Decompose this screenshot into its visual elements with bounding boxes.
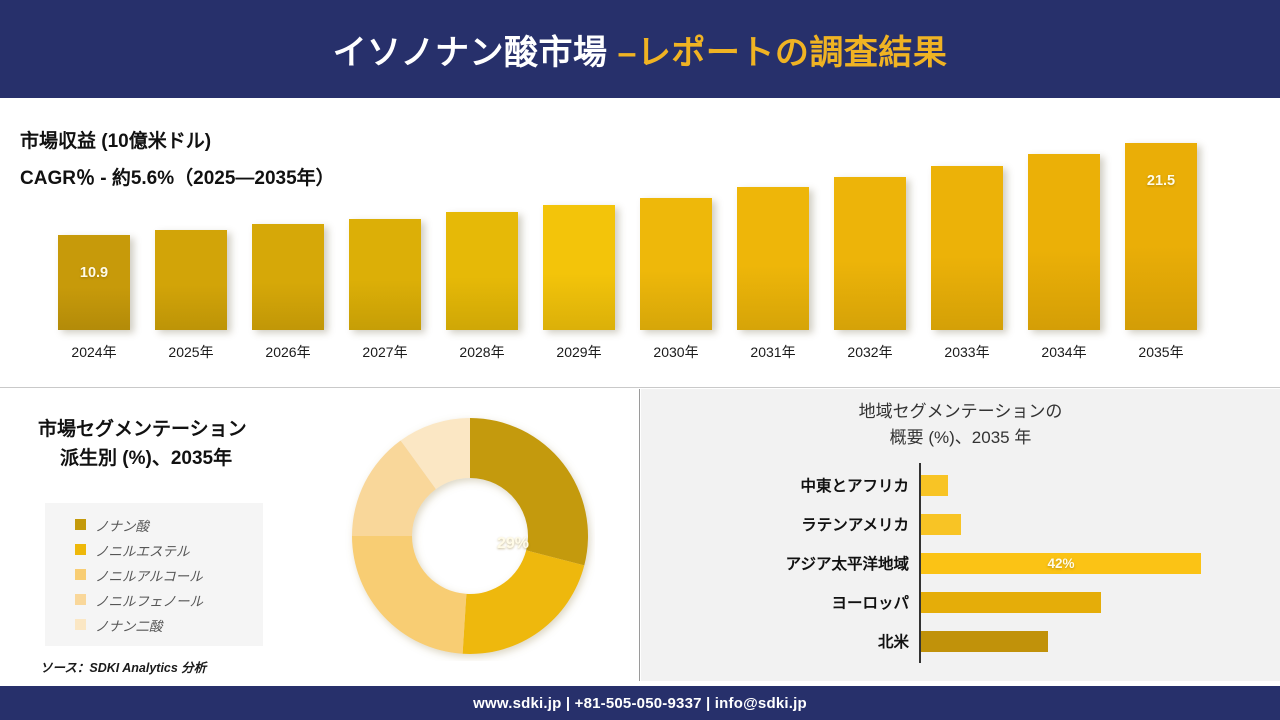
donut-slice [352,536,466,654]
revenue-bar: 2028年 [446,212,518,330]
revenue-bar-label: 2029年 [529,342,629,362]
region-row: 中東とアフリカ [641,465,1280,505]
segmentation-legend: ノナン酸ノニルエステルノニルアルコールノニルフェノールノナン二酸 [45,503,263,646]
regional-title-line2: 概要 (%)、2035 年 [641,425,1280,451]
revenue-bar-chart: 10.92024年2025年2026年2027年2028年2029年2030年2… [40,128,1240,368]
region-row: アジア太平洋地域42% [641,543,1280,583]
legend-item-label: ノニルエステル [95,540,190,560]
revenue-bar-label: 2026年 [238,342,338,362]
donut-center-value: 29% [497,535,529,553]
footer-banner: www.sdki.jp | +81-505-050-9337 | info@sd… [0,686,1280,720]
legend-swatch-icon [75,594,86,605]
revenue-bar: 2030年 [640,198,712,330]
bar-column: 2027年 [349,130,421,330]
regional-segmentation-section: 地域セグメンテーションの 概要 (%)、2035 年 中東とアフリカラテンアメリ… [641,389,1280,681]
page-title-main: イソノナン酸市場 [333,34,618,72]
revenue-bar: 2029年 [543,205,615,330]
legend-item-label: ノニルフェノール [95,590,203,610]
legend-item-label: ノナン二酸 [95,615,163,635]
revenue-bar-label: 2033年 [917,342,1017,362]
revenue-bar: 2033年 [931,166,1003,330]
legend-item-label: ノナン酸 [95,515,149,535]
revenue-bar-label: 2035年 [1111,342,1211,362]
regional-title: 地域セグメンテーションの 概要 (%)、2035 年 [641,399,1280,450]
legend-swatch-icon [75,619,86,630]
region-label: 中東とアフリカ [709,474,909,496]
bar-column: 2033年 [931,130,1003,330]
region-bar: 42% [921,553,1201,574]
page-title: イソノナン酸市場 –レポートの調査結果 [333,25,948,74]
legend-item: ノナン二酸 [75,612,263,637]
region-label: ラテンアメリカ [709,513,909,535]
source-note: ソース：SDKI Analytics 分析 [40,657,206,676]
revenue-bar: 2034年 [1028,154,1100,330]
revenue-bar: 2026年 [252,224,324,330]
legend-swatch-icon [75,519,86,530]
region-label: 北米 [709,630,909,652]
revenue-bar-label: 2032年 [820,342,920,362]
bar-column: 2034年 [1028,130,1100,330]
revenue-bar: 21.52035年 [1125,143,1197,330]
market-segmentation-section: 市場セグメンテーション 派生別 (%)、2035年 ノナン酸ノニルエステルノニル… [0,389,640,681]
bar-column: 2025年 [155,130,227,330]
revenue-bar-label: 2028年 [432,342,532,362]
footer-contact-text: www.sdki.jp | +81-505-050-9337 | info@sd… [473,695,807,712]
revenue-bar-value: 10.9 [58,265,130,281]
region-label: ヨーロッパ [709,591,909,613]
page-title-sub: –レポートの調査結果 [618,34,948,72]
bar-column: 2032年 [834,130,906,330]
revenue-bar-plot: 10.92024年2025年2026年2027年2028年2029年2030年2… [40,130,1240,330]
region-row: 北米 [641,621,1280,661]
revenue-bar-label: 2027年 [335,342,435,362]
segmentation-title-line1: 市場セグメンテーション [38,415,247,444]
segmentation-title: 市場セグメンテーション 派生別 (%)、2035年 [38,415,247,474]
region-bar [921,514,961,535]
revenue-bar-value: 21.5 [1125,173,1197,189]
region-bar [921,592,1101,613]
revenue-bar: 2032年 [834,177,906,330]
region-bar [921,631,1048,652]
segmentation-title-line2: 派生別 (%)、2035年 [38,444,247,473]
revenue-bar: 10.92024年 [58,235,130,330]
legend-item: ノニルエステル [75,537,263,562]
legend-item-label: ノニルアルコール [95,565,203,585]
revenue-bar-label: 2024年 [44,342,144,362]
header-banner: イソノナン酸市場 –レポートの調査結果 [0,0,1280,98]
revenue-bar: 2025年 [155,230,227,330]
revenue-bar-label: 2031年 [723,342,823,362]
market-revenue-section: 市場収益 (10億米ドル) CAGR％ - 約5.6%（2025―2035年） … [0,98,1280,388]
revenue-bar-label: 2025年 [141,342,241,362]
bar-column: 2031年 [737,130,809,330]
bar-column: 10.92024年 [58,130,130,330]
segmentation-donut-chart: 29% [345,411,595,661]
donut-slice [463,550,585,654]
revenue-bar-label: 2034年 [1014,342,1114,362]
legend-item: ノニルアルコール [75,562,263,587]
legend-item: ノニルフェノール [75,587,263,612]
infographic-page: イソノナン酸市場 –レポートの調査結果 市場収益 (10億米ドル) CAGR％ … [0,0,1280,720]
region-bar [921,475,948,496]
regional-title-line1: 地域セグメンテーションの [641,399,1280,425]
legend-item: ノナン酸 [75,512,263,537]
region-label: アジア太平洋地域 [709,552,909,574]
bar-column: 2026年 [252,130,324,330]
region-row: ヨーロッパ [641,582,1280,622]
bar-column: 2030年 [640,130,712,330]
regional-bar-plot: 中東とアフリカラテンアメリカアジア太平洋地域42%ヨーロッパ北米 [641,459,1280,671]
legend-swatch-icon [75,569,86,580]
bar-column: 2028年 [446,130,518,330]
revenue-bar: 2027年 [349,219,421,330]
region-bar-value: 42% [1047,556,1074,571]
region-row: ラテンアメリカ [641,504,1280,544]
bar-column: 21.52035年 [1125,130,1197,330]
donut-svg [345,411,595,661]
bar-column: 2029年 [543,130,615,330]
revenue-bar-label: 2030年 [626,342,726,362]
legend-swatch-icon [75,544,86,555]
revenue-bar: 2031年 [737,187,809,330]
